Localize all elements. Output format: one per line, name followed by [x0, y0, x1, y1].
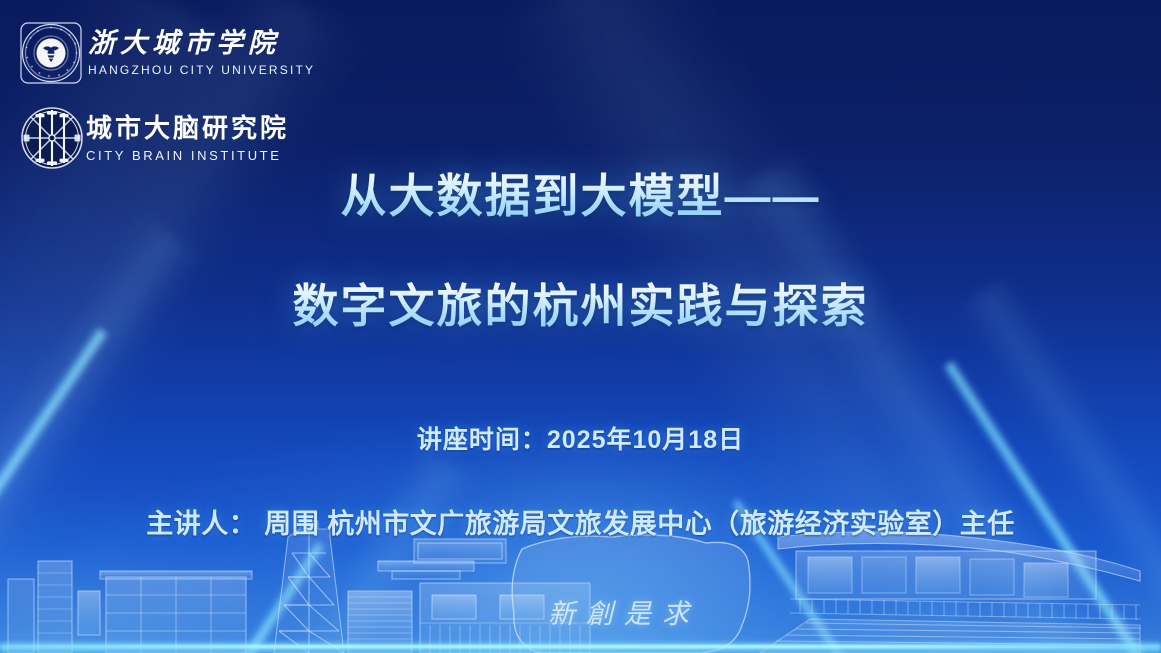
bottom-glow-line [0, 641, 1161, 653]
title-line-1: 从大数据到大模型—— [0, 172, 1161, 220]
logo-hangzhou-city-university: 浙大城市学院 HANGZHOU CITY UNIVERSITY [14, 16, 315, 90]
light-ray-decoration [151, 541, 325, 653]
lecture-date: 讲座时间：2025年10月18日 [0, 420, 1161, 456]
title-line-2: 数字文旅的杭州实践与探索 [0, 282, 1161, 330]
institute-name-en: CITY BRAIN INSTITUTE [86, 149, 289, 162]
city-brain-wheel-icon [18, 104, 86, 172]
university-name-cn: 浙大城市学院 [88, 30, 315, 57]
university-name-en: HANGZHOU CITY UNIVERSITY [88, 64, 315, 76]
slide-meta: 讲座时间：2025年10月18日 主讲人： 周围 杭州市文广旅游局文旅发展中心（… [0, 420, 1161, 541]
institute-name-cn: 城市大脑研究院 [86, 115, 289, 141]
logo-city-brain-institute: 城市大脑研究院 CITY BRAIN INSTITUTE [18, 104, 289, 172]
presentation-slide: 新創是求 [0, 0, 1161, 653]
lecture-speaker: 主讲人： 周围 杭州市文广旅游局文旅发展中心（旅游经济实验室）主任 [0, 502, 1161, 541]
bottom-glow-core [0, 645, 1161, 648]
monument-inscription: 新創是求 [548, 592, 700, 631]
university-seal-icon [14, 16, 88, 90]
slide-title: 从大数据到大模型—— 数字文旅的杭州实践与探索 [0, 172, 1161, 331]
